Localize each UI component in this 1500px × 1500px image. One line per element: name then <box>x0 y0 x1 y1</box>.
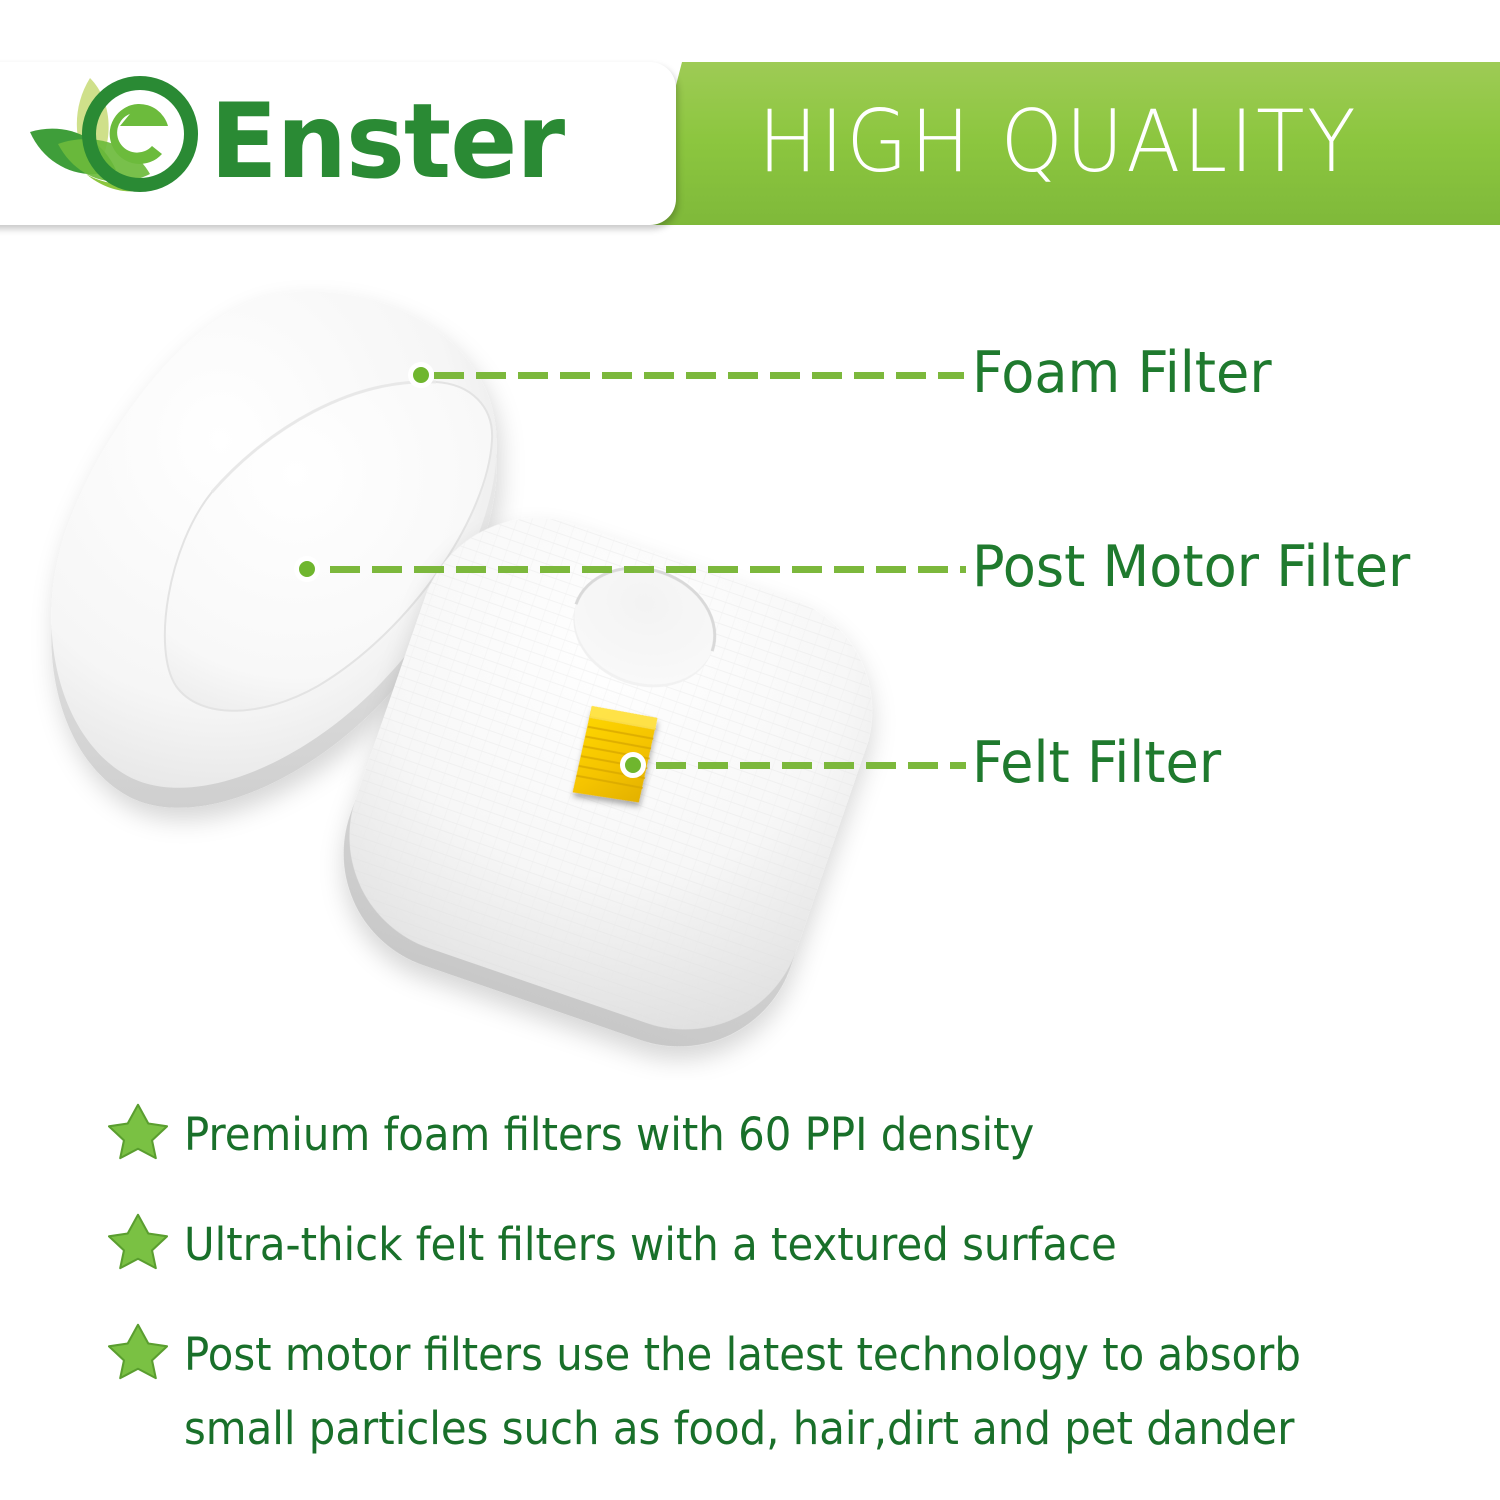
high-quality-text: HIGH QUALITY <box>758 82 1358 202</box>
product-infographic: HIGH QUALITY <box>0 0 1500 1500</box>
callout-label-felt: Felt Filter <box>972 731 1221 795</box>
feature-text: Post motor filters use the latest techno… <box>184 1318 1360 1466</box>
callout-line-post-motor <box>330 566 966 573</box>
leaf-e-logo-icon <box>28 70 206 218</box>
brand-name-text: Enster <box>210 80 564 204</box>
callout-line-felt <box>656 762 966 769</box>
feature-item: Premium foam filters with 60 PPI density <box>108 1098 1448 1172</box>
feature-item: Ultra-thick felt filters with a textured… <box>108 1208 1448 1282</box>
callout-label-foam: Foam Filter <box>972 341 1272 405</box>
star-icon <box>108 1102 168 1160</box>
callout-dot-foam <box>408 362 434 388</box>
callout-dot-felt <box>620 752 646 778</box>
feature-text: Ultra-thick felt filters with a textured… <box>184 1208 1117 1282</box>
brand-logo-panel: Enster <box>0 62 676 225</box>
callout-dot-post-motor <box>294 556 320 582</box>
callout-line-foam <box>434 372 964 379</box>
star-icon <box>108 1322 168 1380</box>
callout-label-post-motor: Post Motor Filter <box>972 535 1410 599</box>
header-banner: HIGH QUALITY <box>0 62 1500 227</box>
feature-list: Premium foam filters with 60 PPI density… <box>108 1098 1448 1500</box>
star-icon <box>108 1212 168 1270</box>
feature-item: Post motor filters use the latest techno… <box>108 1318 1448 1466</box>
feature-text: Premium foam filters with 60 PPI density <box>184 1098 1034 1172</box>
high-quality-banner: HIGH QUALITY <box>640 62 1500 225</box>
